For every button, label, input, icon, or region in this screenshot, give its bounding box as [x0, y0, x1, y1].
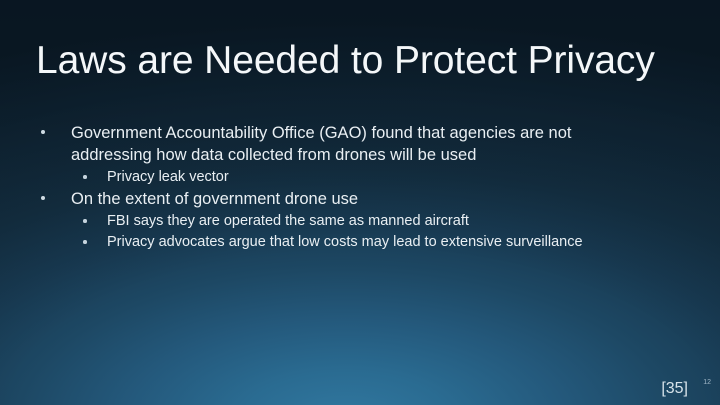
bullet-dot-icon — [83, 240, 87, 244]
bullet-item-level2: FBI says they are operated the same as m… — [0, 211, 720, 232]
bullet-text: On the extent of government drone use — [71, 188, 646, 210]
bullet-group: Government Accountability Office (GAO) f… — [0, 122, 720, 188]
bullet-group: On the extent of government drone use FB… — [0, 188, 720, 253]
bullet-item-level1: On the extent of government drone use — [0, 188, 720, 210]
bullet-item-level2: Privacy leak vector — [0, 167, 720, 188]
bullet-text: Government Accountability Office (GAO) f… — [71, 122, 646, 166]
bullet-dot-icon — [41, 130, 45, 134]
bullet-item-level1: Government Accountability Office (GAO) f… — [0, 122, 720, 166]
bullet-dot-icon — [41, 196, 45, 200]
bullet-text: Privacy advocates argue that low costs m… — [107, 232, 667, 253]
presentation-slide: Laws are Needed to Protect Privacy Gover… — [0, 0, 720, 405]
slide-number: 12 — [703, 379, 711, 387]
slide-content: Laws are Needed to Protect Privacy Gover… — [0, 0, 720, 405]
citation-reference: [35] — [661, 380, 688, 398]
bullet-text: Privacy leak vector — [107, 167, 667, 188]
slide-title: Laws are Needed to Protect Privacy — [36, 38, 686, 84]
bullet-dot-icon — [83, 219, 87, 223]
bullet-dot-icon — [83, 175, 87, 179]
bullet-text: FBI says they are operated the same as m… — [107, 211, 667, 232]
slide-body-bullet-list: Government Accountability Office (GAO) f… — [0, 122, 720, 253]
bullet-item-level2: Privacy advocates argue that low costs m… — [0, 232, 720, 253]
